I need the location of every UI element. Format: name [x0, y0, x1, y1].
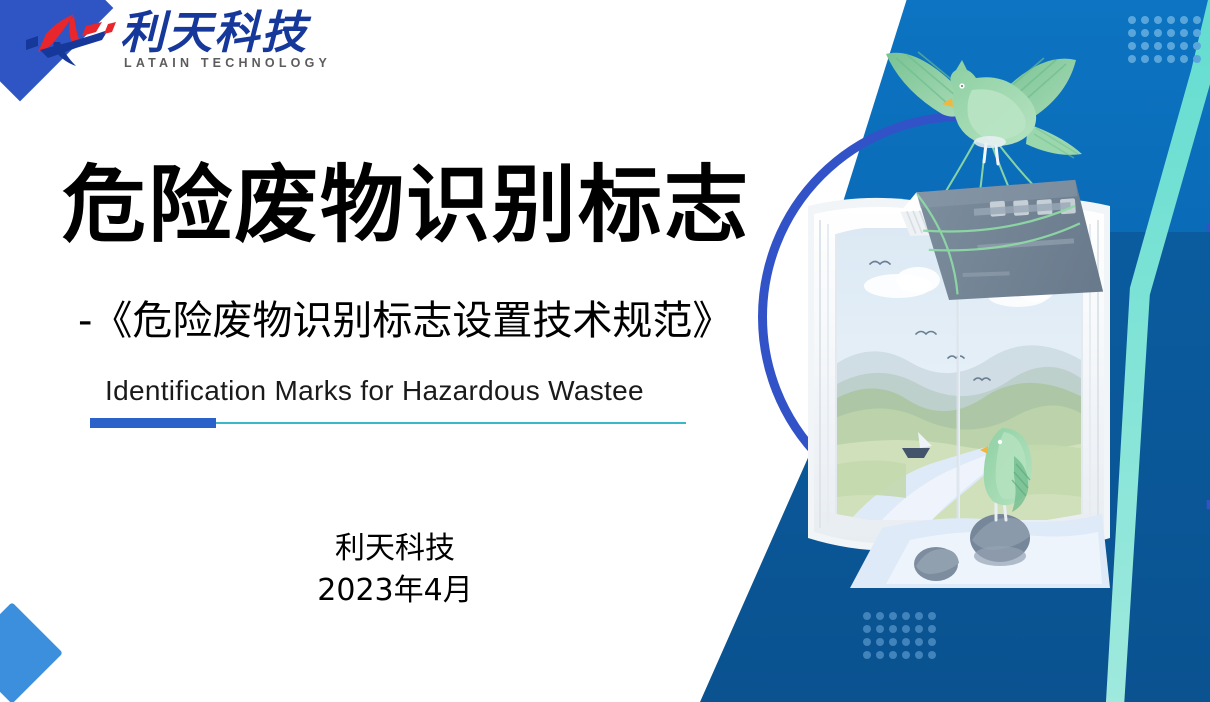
page-subtitle: -《危险废物识别标志设置技术规范》 — [78, 295, 732, 347]
latain-logo-mark-icon — [24, 12, 116, 68]
footer-block: 利天科技 2023年4月 — [0, 528, 790, 612]
flying-green-bird — [886, 52, 1082, 164]
divider-thin-segment — [216, 422, 686, 424]
slide-root: 利天科技 LATAIN TECHNOLOGY 危险废物识别标志 -《危险废物识别… — [0, 0, 1210, 702]
illustration-bird-and-books — [790, 28, 1170, 588]
footer-organization: 利天科技 — [0, 528, 790, 570]
page-subtitle-english: Identification Marks for Hazardous Waste… — [105, 373, 644, 409]
title-divider — [90, 418, 686, 428]
company-logo: 利天科技 LATAIN TECHNOLOGY — [24, 8, 334, 74]
footer-date: 2023年4月 — [0, 570, 790, 612]
logo-company-name-en: LATAIN TECHNOLOGY — [124, 56, 331, 70]
divider-thick-segment — [90, 418, 216, 428]
logo-company-name-cn: 利天科技 — [120, 6, 308, 60]
page-title: 危险废物识别标志 — [62, 155, 750, 255]
dot-grid-bottom — [863, 612, 936, 659]
corner-bottom-left-diamond — [0, 602, 63, 702]
